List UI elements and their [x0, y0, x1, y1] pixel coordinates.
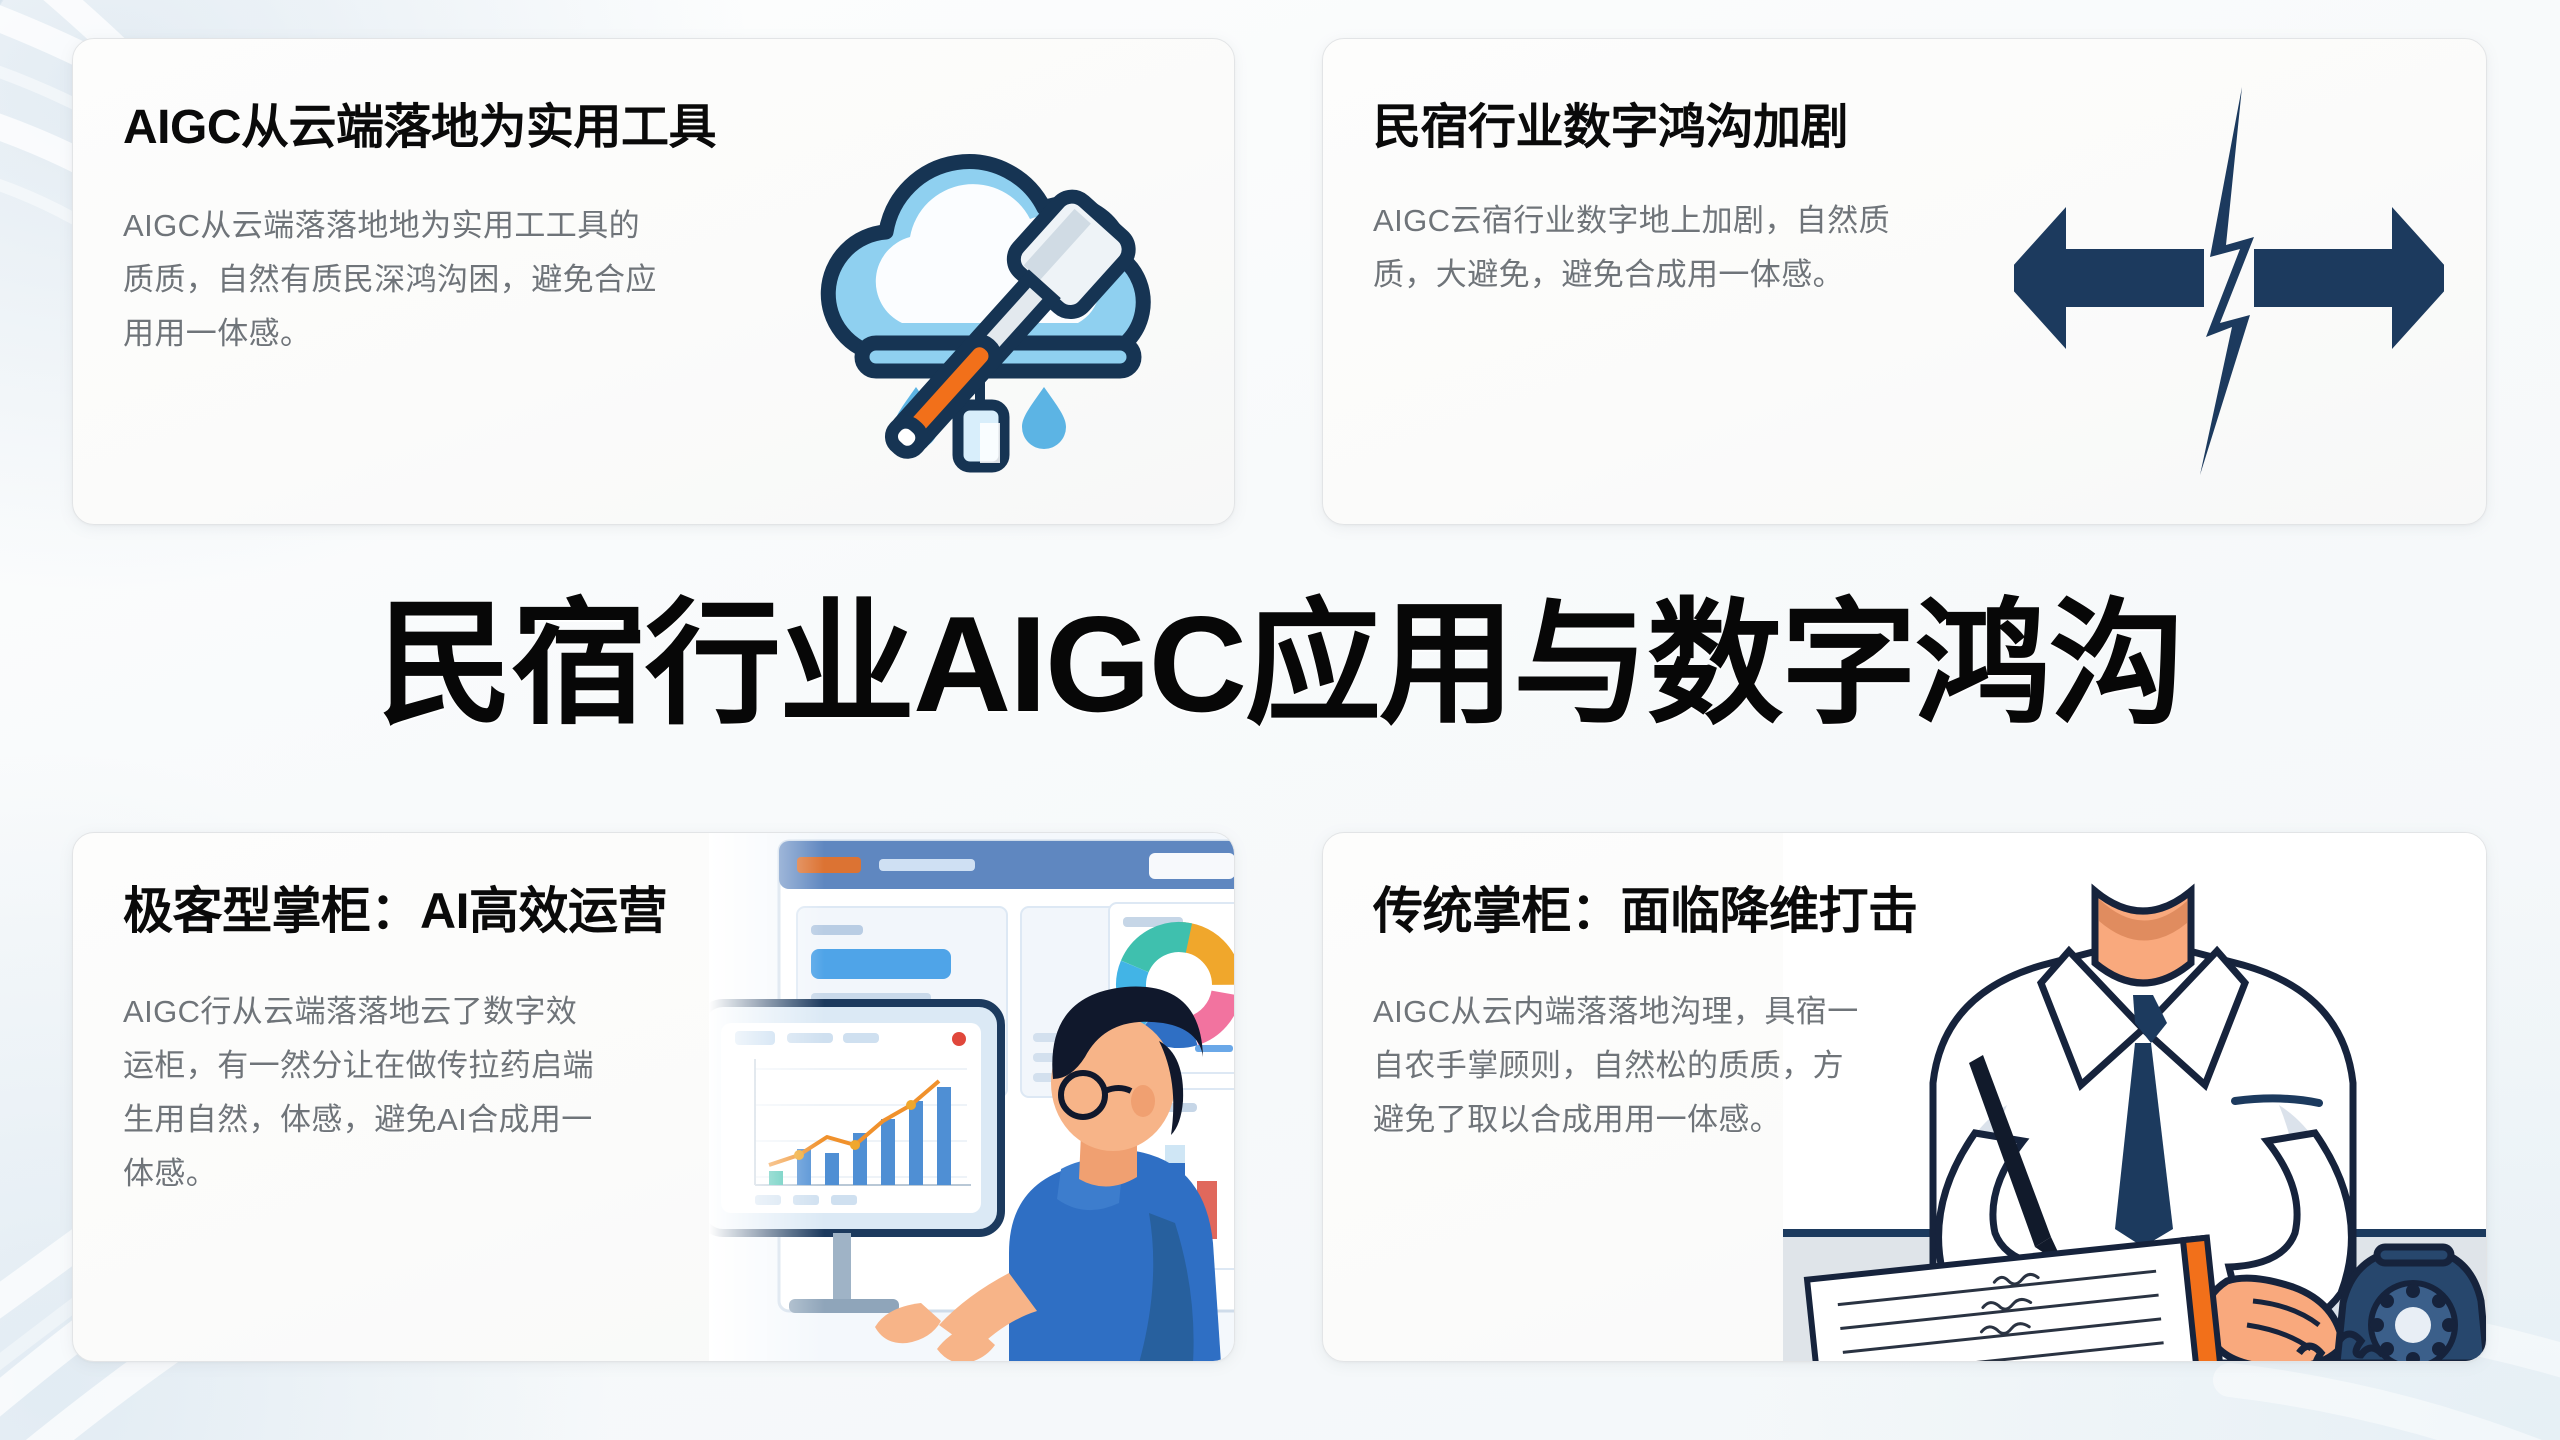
slide-canvas: AIGC从云端落地为实用工具 AIGC从云端落落地地为实用工工具的质质，自然有质… — [0, 0, 2560, 1440]
card-body: AIGC云宿行业数字地上加剧，自然质质，大避免，避免合成用一体感。 — [1373, 194, 1913, 302]
card-title: AIGC从云端落地为实用工具 — [123, 87, 716, 157]
card-body: AIGC从云内端落落地沟理，具宿一自农手掌顾则，自然松的质质，方避免了取以合成用… — [1373, 985, 1863, 1147]
card-title: 传统掌柜：面临降维打击 — [1373, 871, 1918, 943]
card-aigc-tool[interactable]: AIGC从云端落地为实用工具 AIGC从云端落落地地为实用工工具的质质，自然有质… — [72, 38, 1235, 525]
card-title: 民宿行业数字鸿沟加剧 — [1373, 87, 1848, 157]
card-title: 极客型掌柜：AI高效运营 — [123, 871, 667, 943]
card-traditional-owner[interactable]: 传统掌柜：面临降维打击 AIGC从云内端落落地沟理，具宿一自农手掌顾则，自然松的… — [1322, 832, 2487, 1362]
diverging-arrows-crack-icon — [2014, 79, 2444, 479]
cloud-tool-icon — [794, 87, 1214, 507]
card-body: AIGC行从云端落落地云了数字效运柜，有一然分让在做传拉药启端生用自然，体感，避… — [123, 985, 603, 1201]
card-geek-owner[interactable]: 极客型掌柜：AI高效运营 AIGC行从云端落落地云了数字效运柜，有一然分让在做传… — [72, 832, 1235, 1362]
card-body: AIGC从云端落落地地为实用工工具的质质，自然有质民深鸿沟困，避免合应用用一体感… — [123, 199, 663, 361]
analyst-dashboard-illustration — [709, 833, 1234, 1362]
page-title: 民宿行业AIGC应用与数字鸿沟 — [0, 596, 2560, 732]
card-digital-divide[interactable]: 民宿行业数字鸿沟加剧 AIGC云宿行业数字地上加剧，自然质质，大避免，避免合成用… — [1322, 38, 2487, 525]
